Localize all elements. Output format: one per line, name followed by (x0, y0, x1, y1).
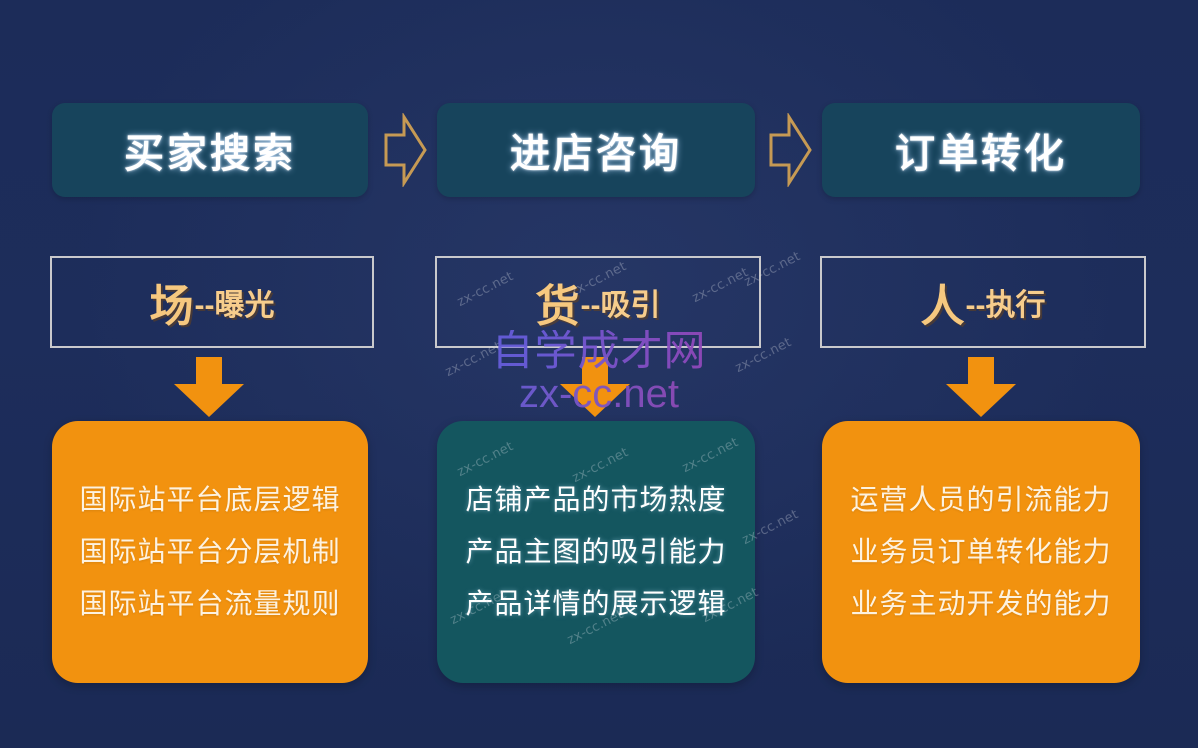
arrow-down-icon (558, 357, 632, 419)
card-line: 店铺产品的市场热度 (465, 486, 726, 514)
column-title-big-huo: 货 (536, 270, 581, 334)
chevron-right-outline-icon (767, 113, 813, 187)
card-line: 国际站平台流量规则 (79, 590, 340, 618)
card-line: 产品详情的展示逻辑 (465, 590, 726, 618)
content-card-huo: 店铺产品的市场热度 产品主图的吸引能力 产品详情的展示逻辑 (437, 421, 755, 683)
flow-step-1: 买家搜索 (52, 103, 368, 197)
card-line: 国际站平台分层机制 (79, 538, 340, 566)
card-line: 运营人员的引流能力 (850, 486, 1111, 514)
card-line: 国际站平台底层逻辑 (79, 486, 340, 514)
column-title-small-huo: --吸引 (581, 280, 661, 324)
arrow-down-icon (172, 357, 246, 419)
column-title-box-huo: 货--吸引 (435, 256, 761, 348)
column-title-big-chang: 场 (150, 270, 195, 334)
content-card-chang: 国际站平台底层逻辑 国际站平台分层机制 国际站平台流量规则 (52, 421, 368, 683)
card-line: 业务员订单转化能力 (850, 538, 1111, 566)
column-title-box-chang: 场--曝光 (50, 256, 374, 348)
column-title-small-ren: --执行 (966, 280, 1046, 324)
card-line: 产品主图的吸引能力 (465, 538, 726, 566)
flow-step-1-label: 买家搜索 (124, 121, 296, 179)
column-title-small-chang: --曝光 (195, 280, 275, 324)
flow-step-2-label: 进店咨询 (510, 121, 682, 179)
chevron-right-outline-icon (382, 113, 428, 187)
flow-step-3: 订单转化 (822, 103, 1140, 197)
flow-step-2: 进店咨询 (437, 103, 755, 197)
flow-step-3-label: 订单转化 (895, 121, 1067, 179)
content-card-ren: 运营人员的引流能力 业务员订单转化能力 业务主动开发的能力 (822, 421, 1140, 683)
card-line: 业务主动开发的能力 (850, 590, 1111, 618)
arrow-down-icon (944, 357, 1018, 419)
column-title-big-ren: 人 (921, 270, 966, 334)
slide-canvas: 买家搜索 进店咨询 订单转化 场--曝光 货--吸引 人--执行 (0, 0, 1198, 748)
column-title-box-ren: 人--执行 (820, 256, 1146, 348)
